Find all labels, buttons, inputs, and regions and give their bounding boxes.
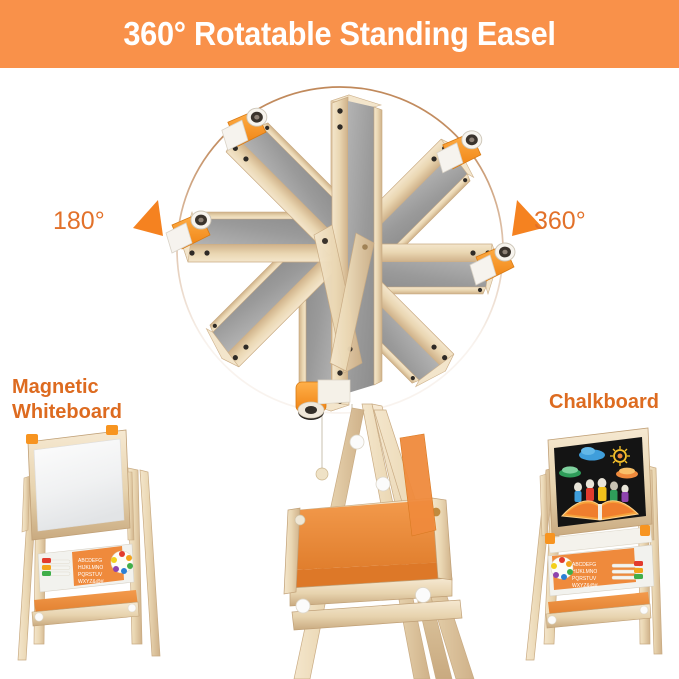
svg-text:WXYZ&@#: WXYZ&@# [78,579,104,585]
left-easel-whiteboard: ABCDEFG HIJKLMNO PQRSTUV WXYZ&@# [18,425,160,660]
rotating-board-star [166,86,515,411]
svg-text:HIJKLMNO: HIJKLMNO [78,565,103,571]
angle-label-360: 360° [534,207,586,236]
easel-illustration: ABCDEFG HIJKLMNO PQRSTUV WXYZ&@# [0,0,679,679]
svg-text:HIJKLMNO: HIJKLMNO [572,569,597,575]
product-infographic: ABCDEFG HIJKLMNO PQRSTUV WXYZ&@# [0,0,679,679]
svg-text:ABCDEFG: ABCDEFG [572,562,596,568]
caption-chalkboard: Chalkboard [549,390,659,415]
angle-label-180: 180° [53,207,105,236]
left-alphabet-panel: ABCDEFG HIJKLMNO PQRSTUV WXYZ&@# [38,544,134,592]
caption-line-1: Magnetic [12,375,122,400]
svg-text:PQRSTUV: PQRSTUV [572,576,597,582]
caption-line-2: Whiteboard [12,400,122,425]
arrow-left-180 [133,200,163,236]
right-tray [546,592,651,628]
header-banner: 360° Rotatable Standing Easel [0,0,679,68]
left-tray [32,590,139,626]
right-easel-chalkboard: ABCDEFG HIJKLMNO PQRSTUV WXYZ&@# [526,428,662,660]
caption-magnetic-whiteboard: Magnetic Whiteboard [12,375,122,425]
page-title: 360° Rotatable Standing Easel [24,0,655,68]
svg-text:PQRSTUV: PQRSTUV [78,572,103,578]
center-easel-frame [284,380,474,679]
svg-text:ABCDEFG: ABCDEFG [78,558,102,564]
svg-text:WXYZ&@#: WXYZ&@# [572,583,598,589]
right-alphabet-panel: ABCDEFG HIJKLMNO PQRSTUV WXYZ&@# [548,545,654,596]
